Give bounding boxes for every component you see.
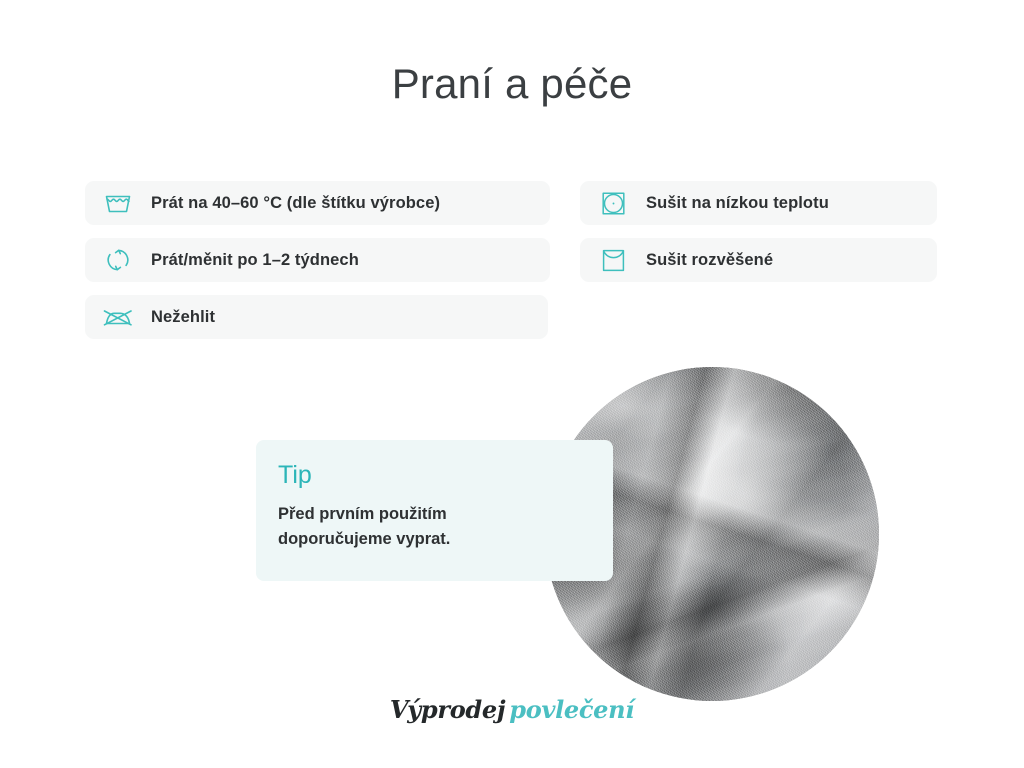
page-title: Praní a péče: [0, 60, 1024, 108]
care-row-tumble-dry-low: Sušit na nízkou teplotu: [580, 181, 937, 225]
care-list-left: Prát na 40–60 °C (dle štítku výrobce) Pr…: [85, 181, 550, 352]
care-label: Prát na 40–60 °C (dle štítku výrobce): [151, 194, 440, 213]
tip-card: Tip Před prvním použitím doporučujeme vy…: [256, 440, 613, 581]
brand-word-primary: Výprodej: [390, 695, 505, 724]
care-row-line-dry: Sušit rozvěšené: [580, 238, 937, 282]
brand-logo: Výprodejpovlečení: [0, 695, 1024, 724]
care-label: Nežehlit: [151, 308, 215, 327]
care-row-do-not-iron: Nežehlit: [85, 295, 548, 339]
tip-title: Tip: [278, 462, 587, 490]
care-label: Sušit na nízkou teplotu: [646, 194, 829, 213]
refresh-cycle-icon: [101, 245, 135, 275]
care-list-right: Sušit na nízkou teplotu Sušit rozvěšené: [580, 181, 937, 295]
tumble-dry-low-icon: [596, 188, 630, 218]
do-not-iron-icon: [101, 302, 135, 332]
line-dry-icon: [596, 245, 630, 275]
care-row-wash-frequency: Prát/měnit po 1–2 týdnech: [85, 238, 550, 282]
tip-text-line-2: doporučujeme vyprat.: [278, 527, 587, 553]
care-infographic: Praní a péče Prát na 40–60 °C (dle štítk…: [0, 0, 1024, 768]
wash-tub-icon: [101, 188, 135, 218]
care-label: Sušit rozvěšené: [646, 251, 773, 270]
care-row-wash-temperature: Prát na 40–60 °C (dle štítku výrobce): [85, 181, 550, 225]
care-label: Prát/měnit po 1–2 týdnech: [151, 251, 359, 270]
brand-word-secondary: povlečení: [509, 695, 634, 724]
tip-text-line-1: Před prvním použitím: [278, 502, 587, 528]
